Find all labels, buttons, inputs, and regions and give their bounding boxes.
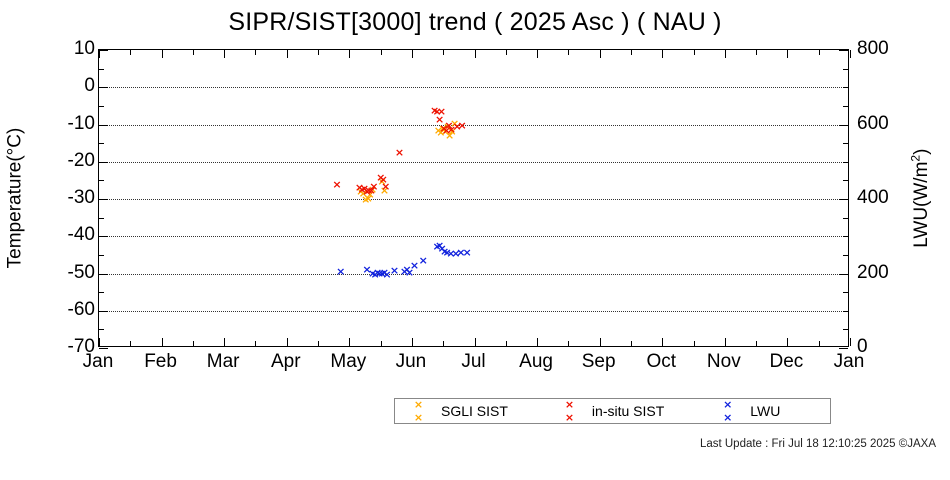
- gridline: [99, 125, 848, 126]
- y-tick-left: [99, 69, 104, 70]
- y-tick-left: [99, 329, 104, 330]
- x-tick-top: [819, 50, 820, 55]
- x-tick-top: [162, 50, 163, 58]
- y-tick-left: [99, 50, 108, 51]
- y-tick-right: [839, 199, 848, 200]
- last-update-text: Last Update : Fri Jul 18 12:10:25 2025 ©…: [0, 438, 936, 450]
- x-tick-top: [130, 50, 131, 55]
- x-tick-label: May: [313, 352, 383, 372]
- data-point-marker: [395, 148, 404, 157]
- y-tick-left: [99, 143, 104, 144]
- x-tick-top: [756, 50, 757, 55]
- x-tick-top: [381, 50, 382, 55]
- y-tick-label-left: -10: [25, 114, 95, 133]
- y-tick-left: [99, 162, 108, 163]
- x-tick: [850, 338, 851, 346]
- x-tick: [99, 338, 100, 346]
- y-tick-left: [99, 218, 104, 219]
- data-point-marker: [462, 248, 471, 257]
- y-tick-label-left: -30: [25, 188, 95, 207]
- y-tick-left: [99, 180, 104, 181]
- chart-page: SIPR/SIST[3000] trend ( 2025 Asc ) ( NAU…: [0, 0, 950, 480]
- legend-label-sgli-sist: SGLI SIST: [441, 403, 514, 419]
- gridline: [99, 162, 848, 163]
- x-tick-label: Dec: [751, 352, 821, 372]
- x-tick: [193, 341, 194, 346]
- x-tick: [725, 338, 726, 346]
- x-tick: [287, 338, 288, 346]
- y-tick-right: [843, 162, 848, 163]
- x-tick-top: [412, 50, 413, 58]
- x-tick-top: [193, 50, 194, 55]
- x-tick: [756, 341, 757, 346]
- data-point-marker: [437, 107, 446, 116]
- x-tick-label: Jun: [376, 352, 446, 372]
- data-point-marker: [410, 261, 419, 270]
- y-axis-label-left-text: Temperature(°C): [4, 128, 26, 269]
- x-tick: [819, 341, 820, 346]
- x-tick: [255, 341, 256, 346]
- y-tick-right: [839, 125, 848, 126]
- x-tick-top: [725, 50, 726, 58]
- x-tick-top: [537, 50, 538, 58]
- y-tick-right: [843, 218, 848, 219]
- legend-marker-lwu: × ×: [708, 398, 750, 424]
- x-tick-label: Jan: [63, 352, 133, 372]
- y-tick-right: [843, 292, 848, 293]
- data-point-marker: [381, 182, 390, 191]
- legend-item-lwu[interactable]: × × LWU: [708, 398, 786, 424]
- y-tick-left: [99, 106, 104, 107]
- legend: × × SGLI SIST × × in-situ SIST × × LWU: [394, 398, 831, 424]
- y-tick-left: [99, 199, 108, 200]
- legend-label-in-situ-sist: in-situ SIST: [592, 403, 670, 419]
- y-tick-left: [99, 236, 108, 237]
- gridline: [99, 87, 848, 88]
- legend-item-in-situ-sist[interactable]: × × in-situ SIST: [550, 398, 670, 424]
- y-tick-left: [99, 292, 104, 293]
- plot-area: [98, 49, 849, 347]
- x-tick-top: [506, 50, 507, 55]
- x-tick-label: Sep: [564, 352, 634, 372]
- data-point-marker: [457, 121, 466, 130]
- y-tick-left: [99, 87, 108, 88]
- x-tick: [412, 338, 413, 346]
- x-tick-label: Aug: [501, 352, 571, 372]
- x-tick-label: Jan: [814, 352, 884, 372]
- x-tick-label: Jul: [439, 352, 509, 372]
- data-point-marker: [419, 256, 428, 265]
- x-tick: [443, 341, 444, 346]
- gridline: [99, 311, 848, 312]
- x-tick-top: [475, 50, 476, 58]
- y-tick-label-right: 200: [857, 263, 927, 282]
- x-tick: [506, 341, 507, 346]
- legend-marker-sgli-sist: × ×: [399, 398, 441, 424]
- y-tick-right: [843, 106, 848, 107]
- y-tick-right: [843, 87, 848, 88]
- y-tick-right: [843, 255, 848, 256]
- y-tick-label-left: -40: [25, 225, 95, 244]
- legend-item-sgli-sist[interactable]: × × SGLI SIST: [399, 398, 514, 424]
- x-tick-top: [850, 50, 851, 58]
- y-tick-right: [843, 69, 848, 70]
- y-tick-left: [99, 348, 108, 349]
- y-tick-label-left: 10: [25, 39, 95, 58]
- y-tick-label-left: 0: [25, 76, 95, 95]
- x-tick: [224, 338, 225, 346]
- gridline: [99, 274, 848, 275]
- page-title: SIPR/SIST[3000] trend ( 2025 Asc ) ( NAU…: [0, 8, 950, 37]
- x-tick-top: [443, 50, 444, 55]
- x-tick: [600, 338, 601, 346]
- x-tick: [662, 338, 663, 346]
- x-tick-top: [631, 50, 632, 55]
- x-tick: [475, 338, 476, 346]
- x-tick: [787, 338, 788, 346]
- x-tick-top: [255, 50, 256, 55]
- y-tick-left: [99, 274, 108, 275]
- gridline: [99, 236, 848, 237]
- x-tick: [130, 341, 131, 346]
- x-tick-top: [224, 50, 225, 58]
- x-tick-top: [568, 50, 569, 55]
- x-tick-top: [287, 50, 288, 58]
- y-tick-left: [99, 125, 108, 126]
- y-tick-right: [843, 236, 848, 237]
- y-tick-label-left: -50: [25, 263, 95, 282]
- y-tick-label-right: 400: [857, 188, 927, 207]
- y-tick-right: [839, 274, 848, 275]
- x-tick-label: Oct: [626, 352, 696, 372]
- y-tick-right: [843, 311, 848, 312]
- x-tick-top: [318, 50, 319, 55]
- y-tick-right: [843, 180, 848, 181]
- x-tick: [318, 341, 319, 346]
- x-tick-top: [99, 50, 100, 58]
- x-tick: [568, 341, 569, 346]
- data-point-marker: [336, 267, 345, 276]
- x-tick: [381, 341, 382, 346]
- x-tick-label: Apr: [251, 352, 321, 372]
- x-tick: [162, 338, 163, 346]
- y-tick-label-left: -20: [25, 151, 95, 170]
- y-tick-right: [839, 348, 848, 349]
- x-tick-label: Feb: [126, 352, 196, 372]
- data-point-marker: [390, 266, 399, 275]
- data-point-marker: [332, 180, 341, 189]
- y-tick-left: [99, 255, 104, 256]
- x-tick: [349, 338, 350, 346]
- gridline: [99, 199, 848, 200]
- x-tick: [631, 341, 632, 346]
- x-tick: [694, 341, 695, 346]
- x-tick-top: [694, 50, 695, 55]
- y-tick-right: [843, 329, 848, 330]
- x-tick-top: [600, 50, 601, 58]
- y-tick-left: [99, 311, 108, 312]
- legend-marker-in-situ-sist: × ×: [550, 398, 592, 424]
- x-tick-top: [787, 50, 788, 58]
- x-tick-top: [349, 50, 350, 58]
- y-tick-right: [843, 143, 848, 144]
- y-tick-right: [839, 50, 848, 51]
- x-tick-top: [662, 50, 663, 58]
- x-tick-label: Nov: [689, 352, 759, 372]
- y-tick-label-right: 800: [857, 39, 927, 58]
- x-tick-label: Mar: [188, 352, 258, 372]
- legend-label-lwu: LWU: [750, 403, 786, 419]
- y-tick-label-left: -60: [25, 300, 95, 319]
- x-tick: [537, 338, 538, 346]
- y-tick-label-right: 600: [857, 114, 927, 133]
